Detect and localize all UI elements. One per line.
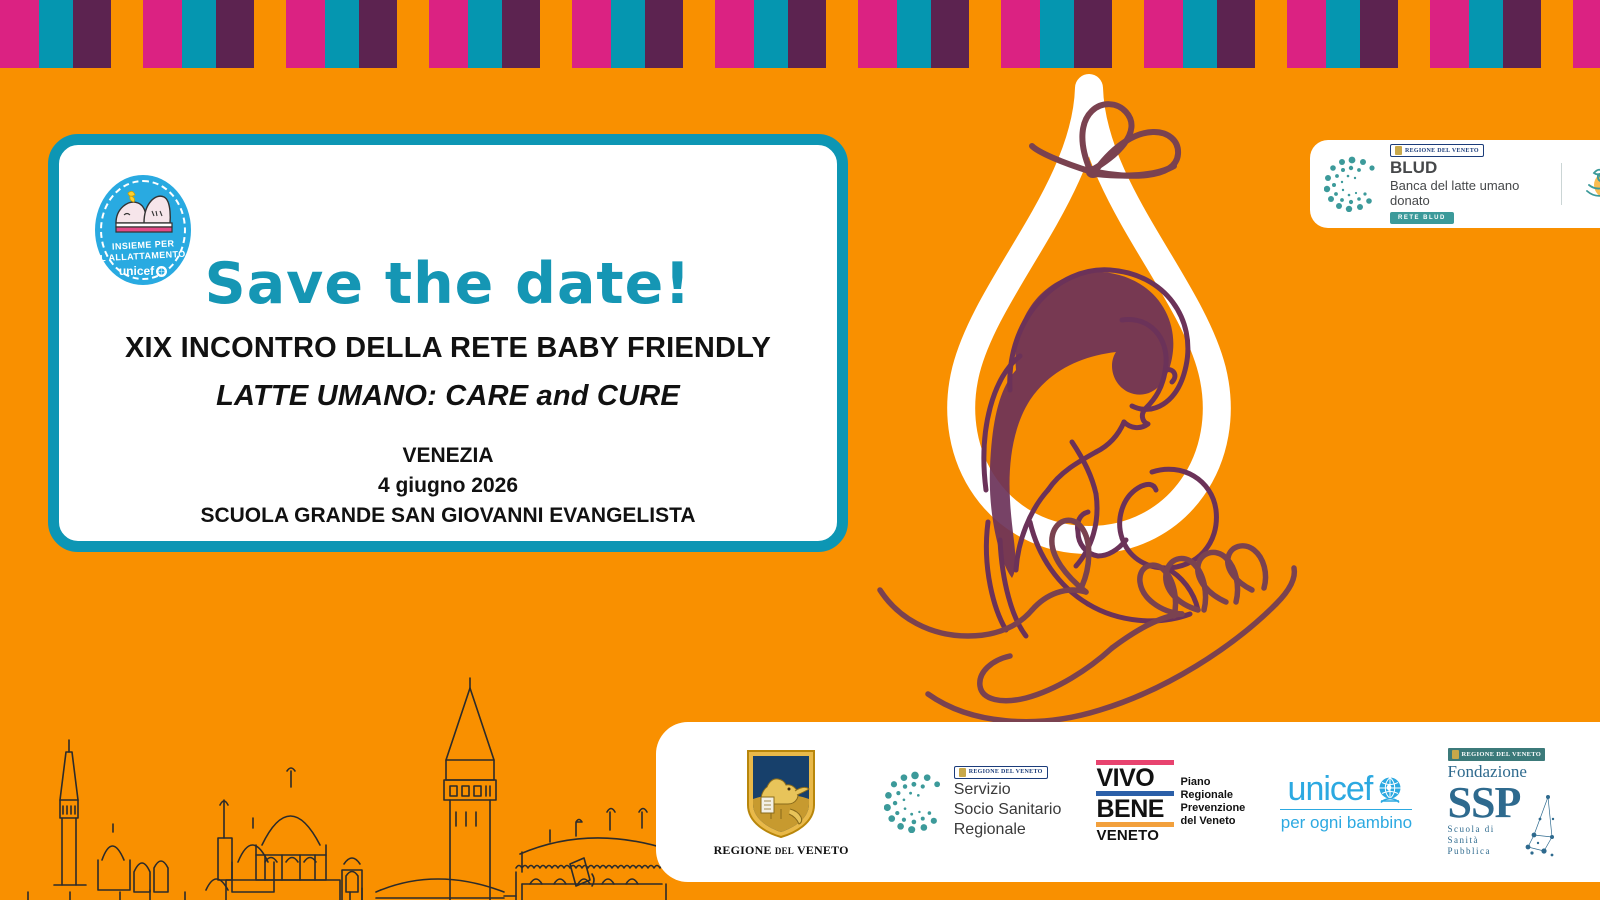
- unicef-tagline: per ogni bambino: [1281, 813, 1412, 832]
- ssp-regione-chip: REGIONE DEL VENETO: [1448, 748, 1546, 761]
- vivo-bene-word-1: VIVO: [1096, 765, 1174, 791]
- ssp-network-dots-icon: [1522, 793, 1556, 857]
- stripe-pink: [1573, 0, 1600, 68]
- vivo-bene-side-4: del Veneto: [1180, 815, 1245, 828]
- stripe-orange: [254, 0, 286, 68]
- stripe-unit: [1287, 0, 1430, 68]
- crest-caption-mid: DEL: [775, 846, 794, 856]
- event-subtitle-line-1: XIX INCONTRO DELLA RETE BABY FRIENDLY: [59, 332, 837, 365]
- stripe-purple: [1074, 0, 1112, 68]
- unicef-lockup: unicef: [1288, 772, 1406, 806]
- venue-date: 4 giugno 2026: [59, 471, 837, 501]
- open-hand-icon: [880, 520, 1294, 721]
- stripe-purple: [1360, 0, 1398, 68]
- blud-subtitle: Banca del latte umano donato: [1390, 178, 1543, 208]
- stripe-orange: [1112, 0, 1144, 68]
- stripe-unit: [429, 0, 572, 68]
- sss-line-2: Socio Sanitario: [954, 800, 1062, 819]
- vivo-bene-side-2: Regionale: [1180, 789, 1245, 802]
- blud-divider: [1561, 163, 1562, 205]
- logo-unicef: unicef per ogni bambino: [1280, 772, 1412, 833]
- stripe-teal: [325, 0, 359, 68]
- stripe-purple: [502, 0, 540, 68]
- stripe-teal: [754, 0, 788, 68]
- stripe-orange: [1398, 0, 1430, 68]
- stripe-purple: [73, 0, 111, 68]
- ssp-body: SSP Scuola di Sanità Pubblica: [1448, 782, 1557, 857]
- vivo-bene-side-3: Prevenzione: [1180, 802, 1245, 815]
- stripe-teal: [39, 0, 73, 68]
- unicef-globe-icon: [1375, 774, 1405, 804]
- vivo-bene-side-1: Piano: [1180, 776, 1245, 789]
- stripe-unit: [1001, 0, 1144, 68]
- venue-block: VENEZIA 4 giugno 2026 SCUOLA GRANDE SAN …: [59, 441, 837, 531]
- event-subtitle-line-2: LATTE UMANO: CARE and CURE: [59, 380, 837, 413]
- stripe-purple: [1217, 0, 1255, 68]
- stripe-orange: [540, 0, 572, 68]
- stripe-unit: [1573, 0, 1600, 68]
- stripe-unit: [286, 0, 429, 68]
- veneto-lion-crest-icon: [743, 747, 819, 839]
- stripe-pink: [0, 0, 39, 68]
- badge-unicef-wordmark: unicef: [119, 264, 154, 278]
- stripe-pink: [858, 0, 897, 68]
- venice-skyline-illustration: [10, 640, 670, 900]
- sponsor-logo-bar: REGIONE DEL VENETO: [656, 722, 1600, 882]
- stripe-purple: [788, 0, 826, 68]
- stripe-orange: [683, 0, 715, 68]
- page-title: Save the date!: [59, 251, 837, 317]
- stripe-purple: [1503, 0, 1541, 68]
- stripe-teal: [611, 0, 645, 68]
- stripe-orange: [111, 0, 143, 68]
- blud-name: BLUD: [1390, 158, 1543, 177]
- unicef-globe-icon: [156, 266, 167, 277]
- regione-veneto-shield-icon: [1395, 146, 1402, 155]
- mother-baby-badge-icon: [108, 189, 178, 235]
- stripe-pink: [1001, 0, 1040, 68]
- stripe-unit: [1430, 0, 1573, 68]
- regione-veneto-chip: REGIONE DEL VENETO: [1390, 144, 1484, 157]
- blud-dot-ring-icon: [1324, 156, 1380, 212]
- stripe-orange: [1541, 0, 1573, 68]
- regione-veneto-chip-label: REGIONE DEL VENETO: [1405, 148, 1479, 154]
- sss-line-1: Servizio: [954, 780, 1062, 799]
- ssp-small-3: Pubblica: [1448, 846, 1521, 857]
- blud-hand-bottle-icon: [1580, 163, 1600, 205]
- stripe-orange: [969, 0, 1001, 68]
- sss-regione-chip: REGIONE DEL VENETO: [954, 766, 1048, 779]
- ssp-small-2: Sanità: [1448, 835, 1521, 846]
- stripe-orange: [1255, 0, 1287, 68]
- regione-veneto-shield-icon: [959, 768, 966, 777]
- blud-logo-panel: REGIONE DEL VENETO BLUD Banca del latte …: [1310, 140, 1600, 228]
- sss-regione-chip-label: REGIONE DEL VENETO: [969, 769, 1043, 775]
- blud-text-block: REGIONE DEL VENETO BLUD Banca del latte …: [1390, 144, 1543, 224]
- stripe-unit: [858, 0, 1001, 68]
- sss-dot-ring-icon: [884, 771, 946, 833]
- vivo-bene-word-2: BENE: [1096, 796, 1174, 822]
- stripe-purple: [931, 0, 969, 68]
- stripe-purple: [216, 0, 254, 68]
- vivo-bene-side-text: Piano Regionale Prevenzione del Veneto: [1180, 776, 1245, 828]
- stripe-pink: [572, 0, 611, 68]
- milk-drop-mother-child-illustration: [860, 70, 1330, 730]
- unicef-wordmark: unicef: [1288, 772, 1373, 806]
- logo-servizio-socio-sanitario: REGIONE DEL VENETO Servizio Socio Sanita…: [884, 766, 1062, 839]
- save-the-date-card: INSIEME PER L'ALLATTAMENTO unicef Save t…: [48, 134, 848, 552]
- stripe-unit: [143, 0, 286, 68]
- ssp-regione-chip-label: REGIONE DEL VENETO: [1462, 751, 1542, 758]
- stripe-pink: [1144, 0, 1183, 68]
- poster-canvas: INSIEME PER L'ALLATTAMENTO unicef Save t…: [0, 0, 1600, 900]
- stripe-pink: [715, 0, 754, 68]
- stripe-unit: [572, 0, 715, 68]
- ssp-acronym: SSP: [1448, 782, 1521, 824]
- stripe-teal: [1326, 0, 1360, 68]
- logo-vivo-bene-veneto: VIVO BENE VENETO Piano Regionale Prevenz…: [1096, 760, 1245, 844]
- stripe-teal: [897, 0, 931, 68]
- stripe-unit: [0, 0, 143, 68]
- stripe-teal: [1040, 0, 1074, 68]
- logo-fondazione-ssp: REGIONE DEL VENETO Fondazione SSP Scuola…: [1448, 748, 1557, 857]
- stripe-unit: [715, 0, 858, 68]
- sss-line-3: Regionale: [954, 820, 1062, 839]
- vivo-bene-stack: VIVO BENE VENETO: [1096, 760, 1174, 844]
- badge-unicef-lockup: unicef: [119, 264, 167, 278]
- venue-place: SCUOLA GRANDE SAN GIOVANNI EVANGELISTA: [59, 501, 837, 531]
- regione-veneto-shield-icon: [1452, 750, 1459, 759]
- logo-regione-del-veneto: REGIONE DEL VENETO: [714, 747, 849, 858]
- stripe-orange: [826, 0, 858, 68]
- sss-text-block: REGIONE DEL VENETO Servizio Socio Sanita…: [954, 766, 1062, 839]
- stripe-unit: [1144, 0, 1287, 68]
- venue-city: VENEZIA: [59, 441, 837, 471]
- stripe-pink: [143, 0, 182, 68]
- stripe-teal: [1469, 0, 1503, 68]
- stripe-orange: [397, 0, 429, 68]
- crest-caption-main: REGIONE: [714, 843, 772, 857]
- stripe-teal: [1183, 0, 1217, 68]
- stripe-pink: [286, 0, 325, 68]
- unicef-divider-rule: [1280, 809, 1412, 811]
- stripe-teal: [182, 0, 216, 68]
- stripe-pink: [1287, 0, 1326, 68]
- vivo-bene-word-3: VENETO: [1096, 827, 1174, 844]
- stripe-teal: [468, 0, 502, 68]
- stripe-purple: [645, 0, 683, 68]
- crest-caption-end: VENETO: [797, 843, 849, 857]
- stripe-pink: [429, 0, 468, 68]
- top-stripe-band: [0, 0, 1600, 68]
- blud-network-badge: RETE BLUD: [1390, 212, 1454, 224]
- stripe-purple: [359, 0, 397, 68]
- regione-veneto-caption: REGIONE DEL VENETO: [714, 843, 849, 858]
- stripe-pink: [1430, 0, 1469, 68]
